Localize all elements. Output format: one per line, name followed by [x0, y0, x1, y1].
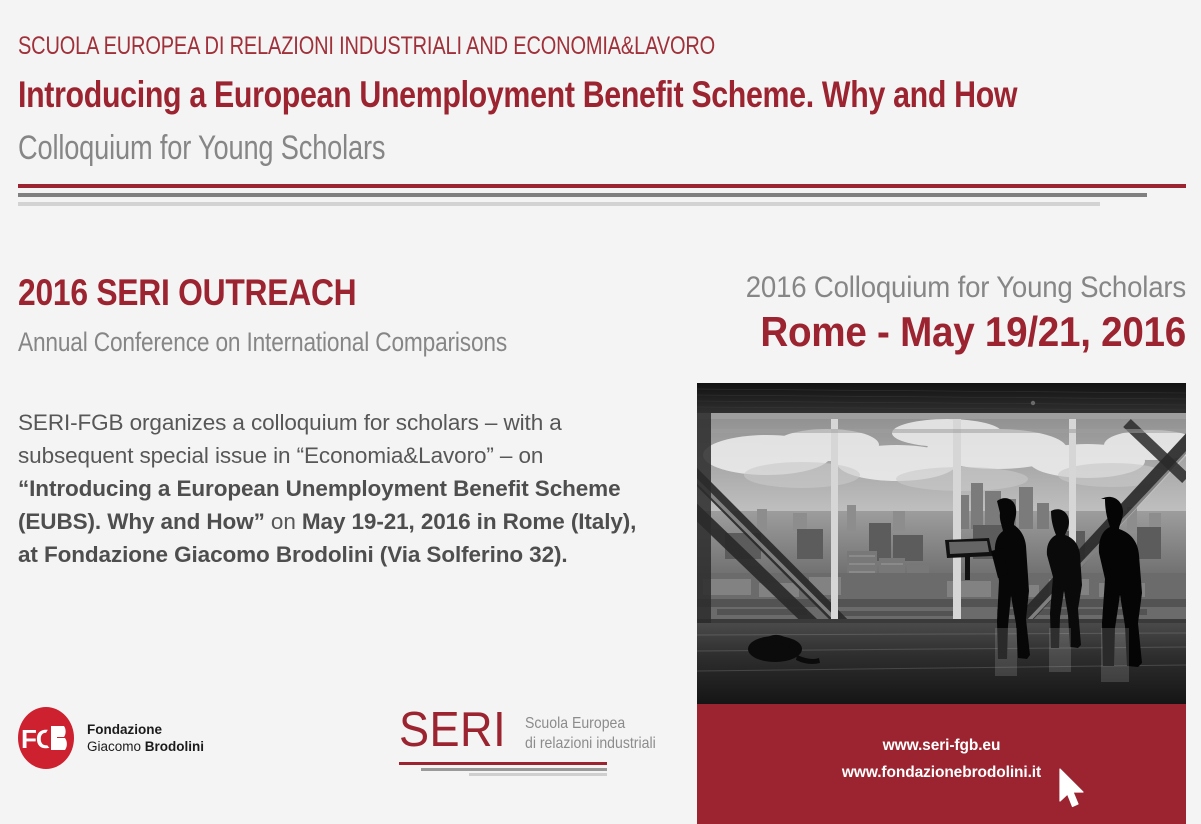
- seri-rule-gray: [421, 768, 607, 771]
- outreach-subtitle: Annual Conference on International Compa…: [18, 326, 547, 358]
- url-seri[interactable]: www.seri-fgb.eu: [697, 734, 1186, 758]
- description-part-1: SERI-FGB organizes a colloquium for scho…: [18, 410, 562, 468]
- seri-wordmark: SERI: [399, 705, 506, 755]
- right-column: 2016 Colloquium for Young Scholars Rome …: [697, 270, 1186, 356]
- seri-rule-red: [399, 762, 607, 765]
- url-fondazione[interactable]: www.fondazionebrodolini.it: [697, 761, 1186, 785]
- logo-fgb[interactable]: FG Fondazione Giacomo Brodolini: [18, 707, 204, 769]
- fgb-line-2-bold: Brodolini: [145, 739, 204, 754]
- mouse-cursor-icon: [1058, 768, 1088, 812]
- divider-rule-gray: [18, 193, 1147, 197]
- seri-tagline-2: di relazioni industriali: [525, 734, 656, 754]
- description-paragraph: SERI-FGB organizes a colloquium for scho…: [18, 406, 638, 571]
- logo-seri[interactable]: SERI Scuola Europea di relazioni industr…: [399, 705, 609, 755]
- header-title: Introducing a European Unemployment Bene…: [18, 74, 1017, 116]
- event-date: Rome - May 19/21, 2016: [736, 308, 1186, 356]
- header-subtitle: Colloquium for Young Scholars: [18, 128, 385, 168]
- event-kicker: 2016 Colloquium for Young Scholars: [736, 270, 1186, 306]
- outreach-title: 2016 SERI OUTREACH: [18, 272, 560, 314]
- header-kicker: SCUOLA EUROPEA DI RELAZIONI INDUSTRIALI …: [18, 32, 715, 60]
- seri-tagline: Scuola Europea di relazioni industriali: [525, 714, 656, 754]
- fgb-wordmark: Fondazione Giacomo Brodolini: [87, 721, 204, 755]
- poster-root: SCUOLA EUROPEA DI RELAZIONI INDUSTRIALI …: [0, 0, 1201, 824]
- fgb-line-1: Fondazione: [87, 721, 204, 738]
- seri-rule-light: [469, 773, 607, 776]
- seri-tagline-1: Scuola Europea: [525, 714, 656, 734]
- url-panel: www.seri-fgb.eu www.fondazionebrodolini.…: [697, 704, 1186, 824]
- poster-header: SCUOLA EUROPEA DI RELAZIONI INDUSTRIALI …: [0, 0, 1201, 215]
- divider-rule-light: [18, 202, 1100, 206]
- description-part-2: on: [265, 509, 302, 534]
- left-column: 2016 SERI OUTREACH Annual Conference on …: [18, 272, 648, 571]
- divider-rule-red: [18, 184, 1186, 188]
- skyline-photo: [697, 383, 1186, 704]
- fgb-line-2-thin: Giacomo: [87, 739, 145, 754]
- fgb-circle-icon: FG: [18, 707, 78, 769]
